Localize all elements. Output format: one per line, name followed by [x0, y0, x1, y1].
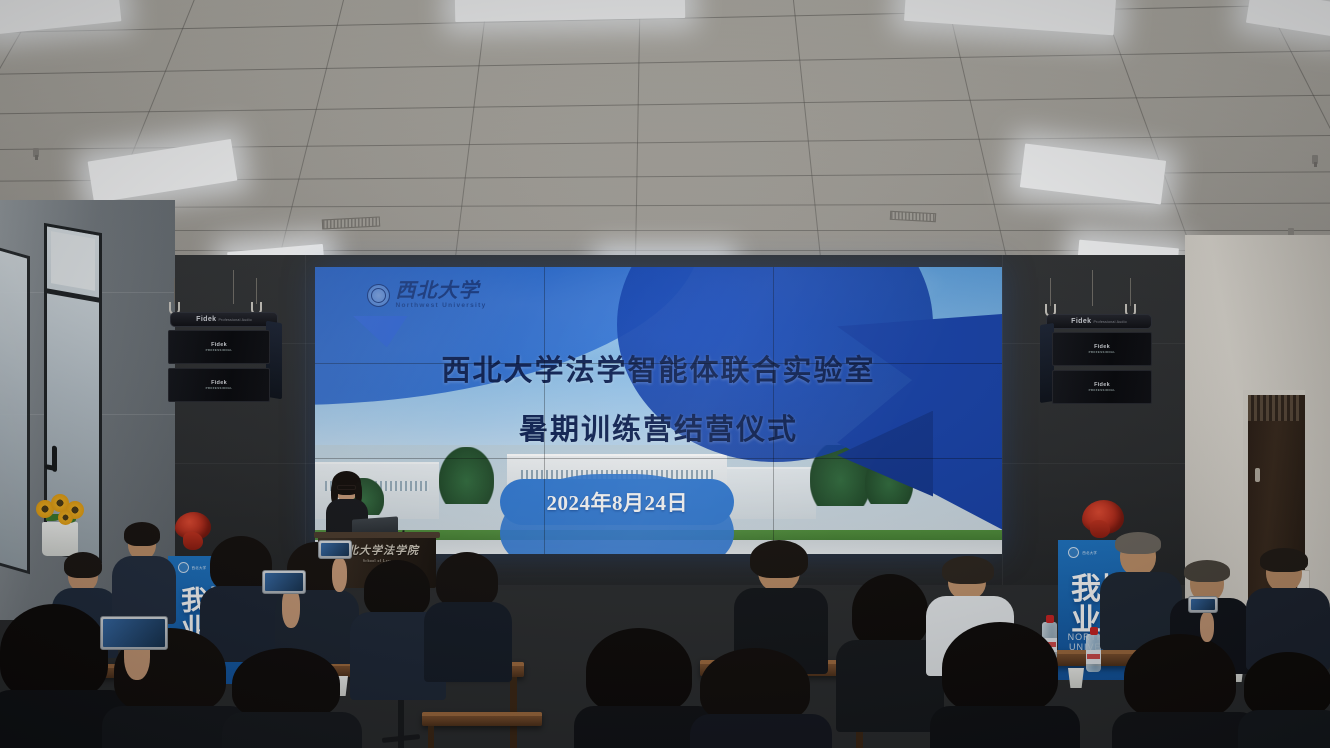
phone-screen — [321, 543, 349, 556]
banner-seal-text: 西北大学 — [1082, 550, 1097, 555]
window — [0, 244, 30, 575]
slide-date-pill: 2024年8月24日 — [500, 479, 734, 525]
audience-member — [432, 552, 502, 674]
speaker-cabinet: FidekPROFESSIONAL — [1052, 332, 1152, 366]
window-blind — [51, 231, 95, 291]
speaker-cabinet: FidekPROFESSIONAL — [1052, 370, 1152, 404]
sunflower-icon — [58, 510, 73, 525]
ceiling-grid — [0, 0, 1330, 282]
speaker-brand-sub: Professional Audio — [218, 318, 251, 322]
audience-member — [1108, 532, 1172, 642]
audience-member — [586, 628, 704, 748]
speaker-fly-bar: FidekProfessional Audio — [170, 312, 278, 327]
speaker-array-right: FidekProfessional Audio FidekPROFESSIONA… — [1032, 282, 1162, 422]
campus-building — [727, 467, 816, 519]
speaker-brand-label: Fidek — [196, 316, 216, 323]
banner-seal-text: 西北大学 — [192, 565, 207, 570]
speaker-cabinet-badge: FidekPROFESSIONAL — [206, 380, 233, 390]
slide-title-block: 西北大学法学智能体联合实验室 暑期训练营结营仪式 — [315, 347, 1002, 448]
audience-member-photographing — [262, 566, 322, 636]
audience-member-photographing — [1188, 596, 1234, 648]
logo-chinese-name: 西北大学 — [396, 281, 487, 301]
university-logo: 西北大学 Northwest University — [367, 281, 487, 310]
audience-member — [1244, 652, 1330, 748]
speaker-brand-label: Fidek — [1071, 318, 1091, 325]
water-bottle — [1086, 634, 1101, 672]
conference-room-photo: 西北大学 Northwest University 西北大学法学智能体联合实验室… — [0, 0, 1330, 748]
presentation-slide: 西北大学 Northwest University 西北大学法学智能体联合实验室… — [315, 267, 1002, 554]
red-ribbon-decoration — [1082, 500, 1124, 534]
glasses-icon — [337, 485, 356, 490]
speaker-cabinet-badge: FidekPROFESSIONAL — [1089, 382, 1116, 392]
ceiling — [0, 0, 1330, 282]
speaker-cabinet-badge: FidekPROFESSIONAL — [206, 342, 233, 352]
audience-member — [700, 648, 820, 748]
phone-screen — [103, 619, 165, 647]
window-handle[interactable] — [52, 445, 57, 472]
smartphone[interactable] — [262, 570, 306, 594]
slide-title-line1: 西北大学法学智能体联合实验室 — [315, 347, 1002, 389]
banner-seal: 西北大学 — [178, 562, 207, 573]
sprinkler-icon — [1312, 155, 1318, 164]
led-video-wall: 西北大学 Northwest University 西北大学法学智能体联合实验室… — [315, 267, 1002, 554]
speaker-fly-bar: FidekProfessional Audio — [1046, 314, 1152, 329]
door-transom — [1248, 395, 1300, 421]
smartphone[interactable] — [100, 616, 168, 650]
phone-screen — [265, 573, 303, 591]
vase — [42, 522, 78, 556]
smartphone[interactable] — [318, 540, 352, 559]
audience-member — [1124, 634, 1248, 748]
slide-date-text: 2024年8月24日 — [547, 487, 689, 517]
speaker-cabinet: FidekPROFESSIONAL — [168, 330, 270, 364]
tree — [439, 447, 494, 504]
speaker-brand-sub: Professional Audio — [1093, 320, 1126, 324]
audience-member-photographing — [96, 604, 186, 684]
seal-icon — [1068, 547, 1079, 558]
slide-title-line2: 暑期训练营结营仪式 — [315, 406, 1002, 448]
speaker-cabinet-badge: FidekPROFESSIONAL — [1089, 344, 1116, 354]
seal-icon — [178, 562, 189, 573]
banner-seal: 西北大学 — [1068, 547, 1097, 558]
audience-member — [232, 648, 352, 748]
audience-member — [1252, 548, 1322, 664]
logo-english-name: Northwest University — [396, 303, 487, 310]
speaker-array-left: FidekProfessional Audio FidekPROFESSIONA… — [160, 282, 290, 422]
sprinkler-icon — [33, 148, 39, 157]
university-seal-icon — [367, 284, 390, 307]
door-handle-icon[interactable] — [1255, 468, 1260, 482]
audience-member-photographing — [318, 540, 368, 598]
phone-screen — [1191, 599, 1215, 610]
conference-table — [422, 712, 542, 726]
sunflower-arrangement — [28, 492, 94, 554]
speaker-cabinet: FidekPROFESSIONAL — [168, 368, 270, 402]
audience-member — [942, 622, 1068, 748]
smartphone[interactable] — [1188, 596, 1218, 613]
audience-member — [846, 574, 934, 714]
